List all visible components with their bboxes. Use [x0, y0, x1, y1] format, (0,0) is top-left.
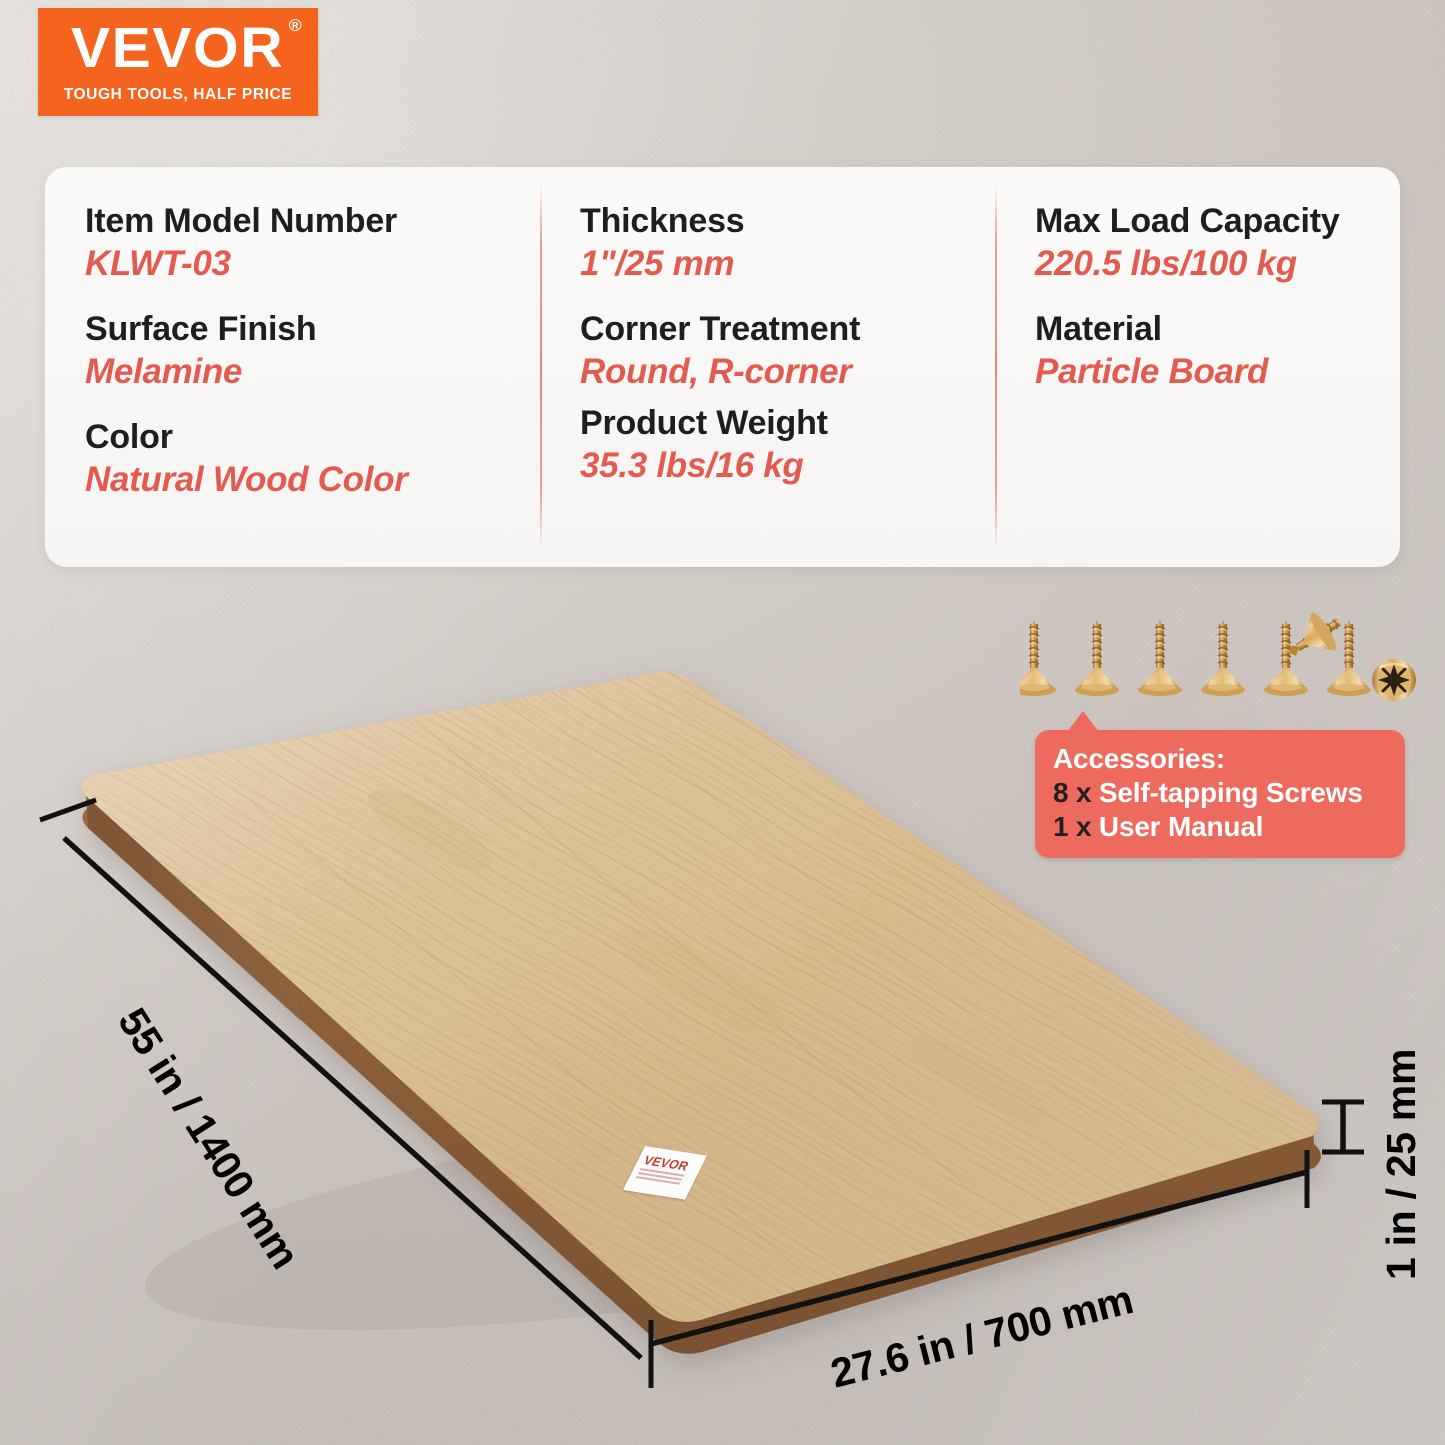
accessory-qty: 1 x: [1053, 811, 1091, 842]
screw-upright-6: [1327, 621, 1371, 696]
accessory-name: Self-tapping Screws: [1099, 777, 1363, 808]
dimension-label-thickness: 1 in / 25 mm: [1378, 1049, 1425, 1280]
screw-upright-2: [1075, 621, 1119, 696]
callout-pointer-icon: [1067, 711, 1099, 732]
screw-upright-4: [1201, 621, 1245, 696]
screw-upright-3: [1138, 621, 1182, 696]
screw-head-on: [1372, 659, 1416, 701]
accessory-qty: 8 x: [1053, 777, 1091, 808]
accessory-row-screws: 8 x Self-tapping Screws: [1053, 776, 1391, 810]
accessory-row-manual: 1 x User Manual: [1053, 810, 1391, 844]
screw-upright-5: [1264, 621, 1308, 696]
infographic-canvas: VEVOR® TOUGH TOOLS, HALF PRICE Item Mode…: [0, 0, 1445, 1445]
accessories-callout: Accessories: 8 x Self-tapping Screws 1 x…: [1035, 730, 1405, 858]
screw-upright-1: [1020, 621, 1056, 696]
accessory-name: User Manual: [1099, 811, 1263, 842]
accessories-title: Accessories:: [1053, 742, 1391, 776]
